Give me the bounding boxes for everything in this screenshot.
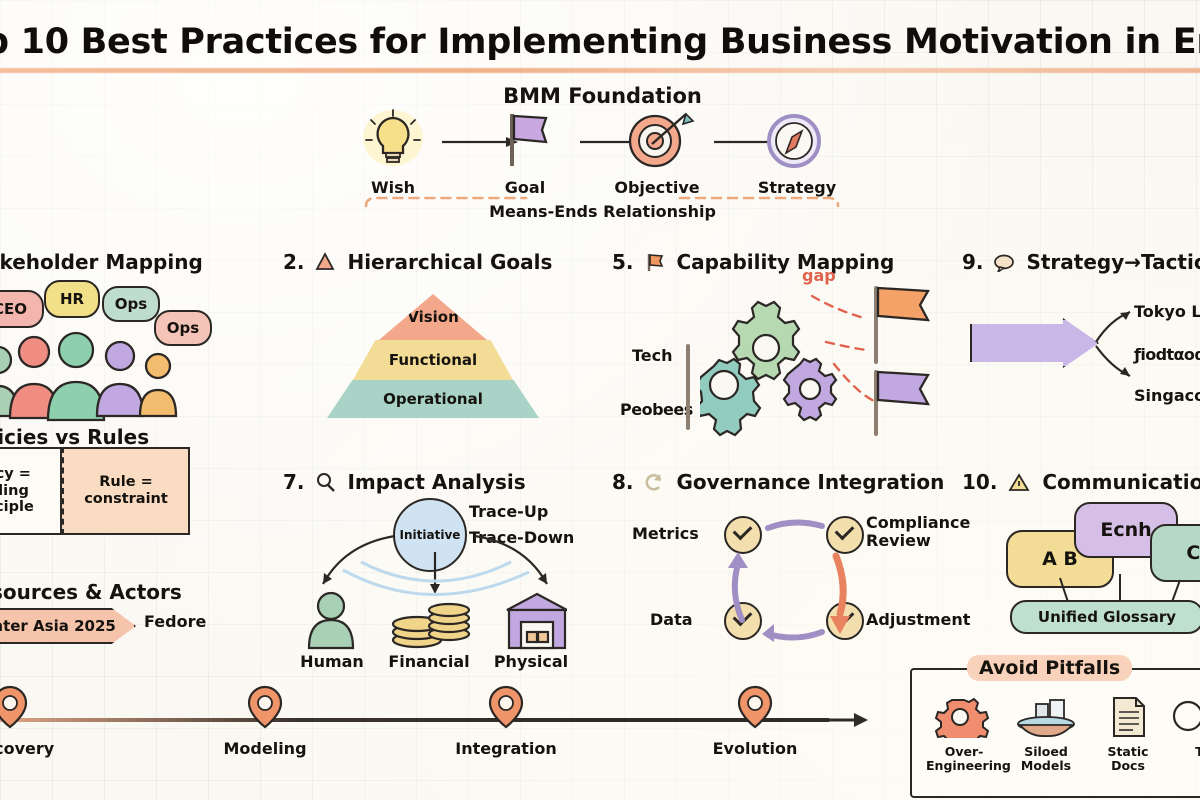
map-pin-icon	[0, 683, 70, 731]
avoid-pitfalls-box: Avoid Pitfalls Over- Engineering Siloed …	[910, 668, 1200, 798]
pitfall-label: Siloed Models	[1008, 745, 1084, 773]
resources-banner: Enter Asia 2025	[0, 608, 136, 644]
impact-resource-financial: Financial	[381, 652, 477, 671]
silo-island-icon	[1008, 696, 1084, 738]
roadmap-timeline: Discovery Modeling Integration Evolution	[0, 675, 880, 785]
panel-title-text: Governance Integration	[676, 470, 944, 494]
panel-title-strategy: 9. Strategy→Tactic	[962, 250, 1200, 274]
policy-definition: Policy = guiding principle	[0, 447, 62, 535]
panel-title-text: Capability Mapping	[676, 250, 894, 274]
panel-title-hierarchical: 2. Hierarchical Goals	[283, 250, 552, 274]
panel-governance-integration: 8. Governance Integration Metrics Compli…	[612, 470, 957, 665]
resources-extra-label: Fedore	[144, 612, 206, 631]
panel-number: 9.	[962, 250, 984, 274]
governance-step-metrics: Metrics	[632, 524, 699, 543]
panel-resources-actors: Resources & Actors Enter Asia 2025 Fedor…	[0, 580, 262, 660]
document-icon	[1090, 696, 1166, 738]
panel-title-text: Communication Fra	[1042, 470, 1200, 494]
timeline-stop-label: Integration	[446, 739, 566, 758]
bmm-node-goal: Goal	[470, 108, 580, 197]
timeline-stop-label: Modeling	[205, 739, 325, 758]
pitfall-over-engineering: Over- Engineering	[926, 696, 1002, 773]
panel-number: 2.	[283, 250, 305, 274]
panel-impact-analysis: 7. Impact Analysis Initiative Trace-Up T…	[283, 470, 593, 670]
panel-number: 8.	[612, 470, 634, 494]
pyramid-level-operational: Operational	[327, 380, 539, 418]
timeline-stop-integration: Integration	[446, 683, 566, 758]
pitfall-static-docs: Static Docs	[1090, 696, 1166, 773]
bmm-node-strategy: Strategy	[742, 108, 852, 197]
bmm-foundation-section: BMM Foundation Wish Goal	[330, 84, 875, 229]
recycle-icon	[644, 472, 664, 492]
panel-title-policies: Policies vs Rules	[0, 425, 149, 449]
capability-axis-tech: Tech	[632, 346, 673, 365]
means-ends-label: Means-Ends Relationship	[330, 202, 875, 221]
panel-stakeholder-mapping: Stakeholder Mapping CEO HR Ops Ops	[0, 250, 262, 425]
stakeholder-bubble-ops-1: Ops	[102, 286, 160, 322]
map-pin-icon	[446, 683, 566, 731]
lightbulb-icon	[338, 108, 448, 172]
governance-cycle-arrows	[712, 508, 872, 648]
capability-axis-pole	[686, 344, 690, 430]
timeline-stop-label: Evolution	[695, 739, 815, 758]
panel-title-resources: Resources & Actors	[0, 580, 182, 604]
capability-gap-label: gap	[802, 266, 836, 285]
rule-definition: Rule = constraint	[62, 447, 190, 535]
stakeholder-bubble-ceo: CEO	[0, 290, 44, 328]
pitfall-label: Over- Engineering	[926, 745, 1002, 773]
stakeholder-bubble-hr: HR	[44, 280, 100, 318]
gear-warning-icon	[926, 696, 1002, 738]
panel-title-text: Strategy→Tactic	[1026, 250, 1200, 274]
panel-title-stakeholder: Stakeholder Mapping	[0, 250, 203, 274]
strategy-branch-singapore: Singaco	[1134, 386, 1200, 405]
target-icon	[602, 108, 712, 172]
capability-flag-purple	[876, 370, 942, 412]
bmm-foundation-title: BMM Foundation	[330, 84, 875, 108]
pyramid-icon	[315, 252, 335, 272]
timeline-stop-discovery: Discovery	[0, 683, 70, 758]
timeline-stop-label: Discovery	[0, 739, 70, 758]
governance-step-data: Data	[650, 610, 693, 629]
panel-hierarchical-goals: 2. Hierarchical Goals Vision Functional …	[283, 250, 583, 415]
panel-title-text: Impact Analysis	[347, 470, 525, 494]
page-title: p 10 Best Practices for Implementing Bus…	[0, 22, 1200, 62]
communication-unified-glossary: Unified Glossary	[1010, 600, 1200, 634]
panel-title-impact: 7. Impact Analysis	[283, 470, 526, 494]
impact-resource-human: Human	[287, 652, 377, 671]
compass-icon	[742, 108, 852, 172]
warning-icon	[1008, 472, 1030, 492]
timeline-stop-evolution: Evolution	[695, 683, 815, 758]
panel-policies-vs-rules: Policies vs Rules Policy = guiding princ…	[0, 425, 262, 575]
panel-number: 5.	[612, 250, 634, 274]
impact-trace-up-label: Trace-Up	[469, 502, 548, 521]
strategy-branch-middle: ƒiodtαoα	[1134, 345, 1200, 364]
pyramid-level-vision: Vision	[379, 294, 487, 340]
map-pin-icon	[695, 683, 815, 731]
panel-title-communication: 10. Communication Fra	[962, 470, 1200, 494]
panel-number: 10.	[962, 470, 997, 494]
pitfall-label: Static Docs	[1090, 745, 1166, 773]
magnifier-icon	[315, 472, 335, 492]
avoid-pitfalls-title: Avoid Pitfalls	[967, 655, 1132, 681]
panel-communication-framework: 10. Communication Fra A B Ecnh C A Unifi…	[962, 470, 1200, 660]
governance-step-compliance: Compliance Review	[866, 514, 970, 549]
speech-bubble-icon	[994, 254, 1014, 272]
stakeholder-people-group	[0, 328, 222, 423]
panel-title-text: Hierarchical Goals	[347, 250, 552, 274]
flag-icon	[470, 108, 580, 172]
panel-strategy-tactics: 9. Strategy→Tactic Tokyo L ƒiodtαoα Sing…	[962, 250, 1200, 425]
strategy-branch-tokyo: Tokyo L	[1134, 302, 1200, 321]
capability-flag-orange	[876, 286, 942, 328]
title-underline	[0, 68, 1200, 73]
timeline-stop-modeling: Modeling	[205, 683, 325, 758]
partial-icon	[1168, 696, 1200, 738]
timeline-end-arrow	[822, 707, 872, 733]
pitfall-partial: Tra	[1168, 696, 1200, 759]
impact-resource-physical: Physical	[483, 652, 579, 671]
panel-number: 7.	[283, 470, 305, 494]
panel-capability-mapping: 5. Capability Mapping Tech Peobees gap	[612, 250, 942, 430]
bmm-node-wish: Wish	[338, 108, 448, 197]
flag-icon	[644, 252, 664, 272]
panel-title-governance: 8. Governance Integration	[612, 470, 944, 494]
capability-axis-people: Peobees	[620, 400, 693, 419]
strategy-arrow	[970, 318, 1099, 368]
pyramid-level-functional: Functional	[353, 340, 513, 380]
map-pin-icon	[205, 683, 325, 731]
bmm-node-objective: Objective	[602, 108, 712, 197]
panel-title-capability: 5. Capability Mapping	[612, 250, 894, 274]
governance-step-adjustment: Adjustment	[866, 610, 970, 629]
pitfall-label: Tra	[1168, 745, 1200, 759]
pitfall-siloed-models: Siloed Models	[1008, 696, 1084, 773]
impact-resource-icons	[297, 588, 567, 662]
